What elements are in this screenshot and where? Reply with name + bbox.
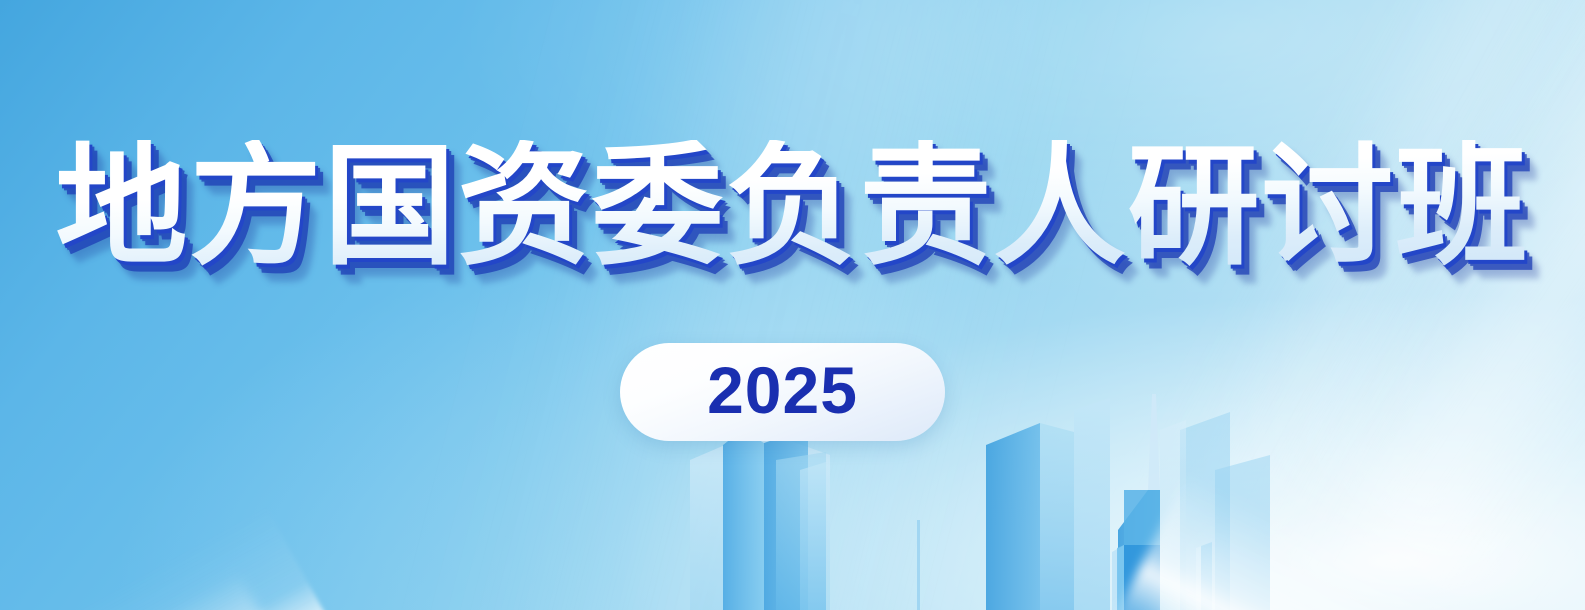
light-ray-center [457,0,1082,610]
light-ray-top-right [1251,0,1585,604]
event-banner: 地方国资委负责人研讨班 2025 [0,0,1585,610]
light-streak-bottom-left-soft [0,571,363,610]
light-ray-top-right-secondary [1157,0,1585,564]
city-skyline-silhouette [0,0,1585,610]
year-badge: 2025 [620,343,945,441]
year-badge-label: 2025 [707,357,858,427]
light-streak-bottom-left [0,506,387,610]
light-streak-bottom-right [1098,472,1585,610]
banner-title-container: 地方国资委负责人研讨班 [0,140,1585,275]
banner-title: 地方国资委负责人研讨班 [56,140,1530,275]
light-streak-bottom-right-soft [1116,519,1585,610]
